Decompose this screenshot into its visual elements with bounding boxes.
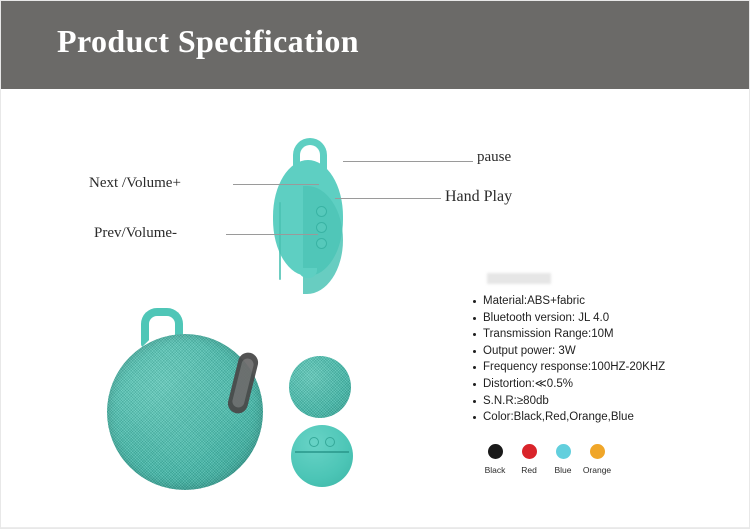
redacted-label bbox=[487, 273, 551, 284]
speaker-side-view-illustration bbox=[273, 138, 345, 276]
product-specification-page: Product Specification Next /Volume+ Prev… bbox=[0, 0, 750, 529]
callout-prev-volume-down: Prev/Volume- bbox=[94, 225, 177, 242]
page-header: Product Specification bbox=[1, 1, 750, 89]
speaker-side-seam bbox=[279, 202, 281, 280]
speaker-small-back-disc bbox=[291, 425, 353, 487]
spec-item-material: Material:ABS+fabric bbox=[473, 293, 733, 310]
speaker-side-body bbox=[273, 160, 343, 276]
page-title: Product Specification bbox=[57, 23, 359, 60]
footer-divider bbox=[1, 527, 750, 528]
speaker-button-bottom-icon bbox=[316, 238, 327, 249]
speaker-back-button-right-icon bbox=[325, 437, 335, 447]
spec-item-snr: S.N.R:≥80db bbox=[473, 393, 733, 410]
color-swatch-group: Black Red Blue Orange bbox=[475, 444, 625, 486]
spec-item-output-power: Output power: 3W bbox=[473, 343, 733, 360]
speaker-button-top-icon bbox=[316, 206, 327, 217]
callout-hand-play: Hand Play bbox=[445, 188, 512, 206]
callout-next-volume-up: Next /Volume+ bbox=[89, 175, 181, 192]
leader-line-prev-volume-down bbox=[226, 234, 318, 235]
spec-item-bluetooth-version: Bluetooth version: JL 4.0 bbox=[473, 310, 733, 327]
speaker-back-button-left-icon bbox=[309, 437, 319, 447]
speaker-button-middle-icon bbox=[316, 222, 327, 233]
spec-item-distortion: Distortion:≪0.5% bbox=[473, 376, 733, 393]
spec-item-color: Color:Black,Red,Orange,Blue bbox=[473, 409, 733, 426]
leader-line-hand-play bbox=[335, 198, 441, 199]
speaker-small-fabric-disc bbox=[289, 356, 351, 418]
color-dot-red bbox=[522, 444, 537, 459]
leader-line-next-volume-up bbox=[233, 184, 319, 185]
speaker-front-view-illustration bbox=[105, 308, 285, 492]
speaker-back-seam bbox=[295, 451, 349, 453]
spec-item-frequency-response: Frequency response:100HZ-20KHZ bbox=[473, 359, 733, 376]
color-dot-blue bbox=[556, 444, 571, 459]
spec-item-transmission-range: Transmission Range:10M bbox=[473, 326, 733, 343]
color-dot-orange bbox=[590, 444, 605, 459]
callout-pause: pause bbox=[477, 149, 511, 166]
leader-line-pause bbox=[343, 161, 473, 162]
color-swatch-orange: Orange bbox=[574, 444, 620, 475]
specification-list: Material:ABS+fabric Bluetooth version: J… bbox=[473, 293, 733, 426]
color-dot-black bbox=[488, 444, 503, 459]
color-label-orange: Orange bbox=[574, 465, 620, 475]
